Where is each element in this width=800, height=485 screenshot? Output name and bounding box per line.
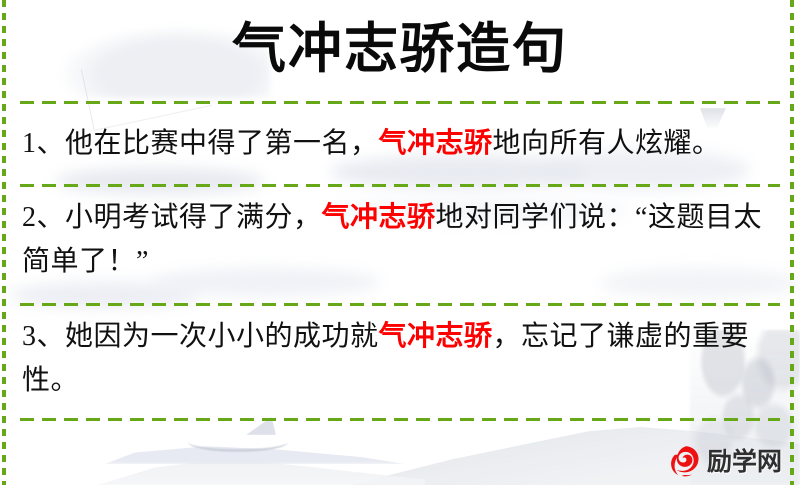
- divider-1: [20, 184, 780, 187]
- sentence-3-prefix: 她因为一次小小的成功就: [65, 321, 379, 352]
- frame-border-left: [2, 0, 6, 485]
- background-mist-1: [55, 168, 265, 194]
- page-title: 气冲志骄造句: [0, 14, 800, 84]
- divider-top: [20, 101, 780, 104]
- red-swirl-flame-icon: [668, 445, 702, 479]
- background-shoreline: [105, 440, 405, 464]
- example-sentence-2: 2、小明考试得了满分，气冲志骄地对同学们说：“这题目太简单了！”: [22, 196, 770, 284]
- background-boat: [188, 432, 288, 452]
- sentence-2-keyword: 气冲志骄: [322, 202, 436, 233]
- sentence-3-keyword: 气冲志骄: [379, 321, 493, 352]
- sentence-1-suffix: 地向所有人炫耀。: [493, 128, 721, 159]
- sentence-1-keyword: 气冲志骄: [379, 128, 493, 159]
- background-mountain-left: [95, 440, 425, 485]
- watermark-brand-text: 励学网: [707, 450, 782, 475]
- sentence-3-index: 3、: [22, 321, 65, 352]
- example-sentence-1: 1、他在比赛中得了第一名，气冲志骄地向所有人炫耀。: [22, 122, 770, 166]
- divider-2: [20, 303, 780, 306]
- sentence-1-prefix: 他在比赛中得了第一名，: [65, 128, 379, 159]
- sentence-2-prefix: 小明考试得了满分，: [65, 202, 322, 233]
- divider-bottom: [20, 418, 780, 421]
- sentence-1-index: 1、: [22, 128, 65, 159]
- frame-border-right: [790, 0, 794, 485]
- sentence-2-index: 2、: [22, 202, 65, 233]
- watermark-logo: 励学网: [668, 445, 782, 479]
- example-sentence-3: 3、她因为一次小小的成功就气冲志骄，忘记了谦虚的重要性。: [22, 315, 770, 403]
- slide-canvas: 气冲志骄造句 1、他在比赛中得了第一名，气冲志骄地向所有人炫耀。 2、小明考试得…: [0, 0, 800, 485]
